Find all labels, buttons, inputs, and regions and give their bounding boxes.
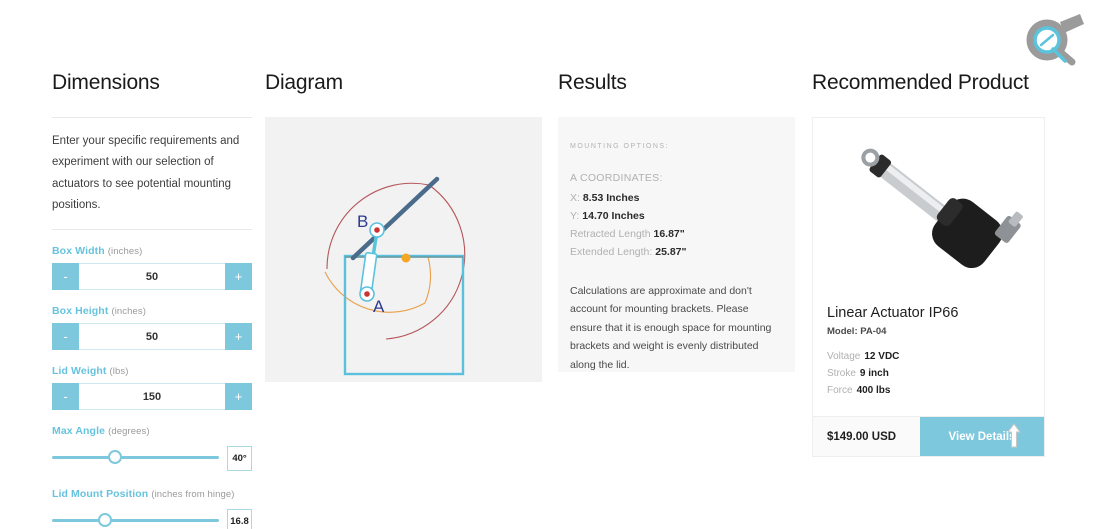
extended-length-label: Extended Length: [570, 246, 652, 258]
lid-mount-position-slider-thumb[interactable] [98, 513, 112, 527]
box-height-label: Box Height (inches) [52, 305, 252, 317]
coord-x-label: X: [570, 192, 580, 204]
lid-weight-increment-button[interactable]: + [225, 383, 252, 410]
actuator-calculator-page: Dimensions Enter your specific requireme… [0, 0, 1100, 529]
retracted-length-label: Retracted Length [570, 228, 651, 240]
recommended-product-title: Recommended Product [812, 72, 1045, 93]
product-model: Model: PA-04 [827, 326, 1030, 337]
diagram-title: Diagram [265, 72, 542, 93]
coord-x-row: X: 8.53 Inches [570, 192, 783, 204]
a-coordinates-label: A COORDINATES: [570, 172, 783, 184]
lid-swing-arc-red-2 [386, 185, 465, 339]
spec-stroke: Stroke9 inch [827, 368, 1030, 379]
product-image [813, 118, 1044, 293]
coord-y-value: 14.70 Inches [582, 210, 644, 222]
max-angle-slider-row[interactable]: 40° [52, 443, 252, 473]
stroke-range-arc-orange-2 [425, 257, 430, 303]
lid-weight-stepper[interactable]: - 150 + [52, 383, 252, 410]
dimensions-intro-text: Enter your specific requirements and exp… [52, 118, 252, 229]
diagram-svg[interactable]: B A [265, 117, 542, 382]
spec-voltage-value: 12 VDC [864, 351, 899, 362]
box-width-input[interactable]: 50 [79, 263, 225, 290]
spec-force-label: Force [827, 385, 853, 396]
spec-force-value: 400 lbs [857, 385, 891, 396]
pivot-a-dot-icon [364, 291, 370, 297]
box-width-unit: (inches) [108, 246, 143, 257]
lid-weight-input[interactable]: 150 [79, 383, 225, 410]
results-title: Results [558, 72, 795, 93]
box-width-stepper[interactable]: - 50 + [52, 263, 252, 290]
box-height-input[interactable]: 50 [79, 323, 225, 350]
product-column: Recommended Product [812, 72, 1045, 457]
lid-weight-label-text: Lid Weight [52, 365, 106, 377]
spec-stroke-value: 9 inch [860, 368, 889, 379]
box-height-label-text: Box Height [52, 305, 108, 317]
lid-mount-position-label: Lid Mount Position (inches from hinge) [52, 488, 252, 500]
spec-stroke-label: Stroke [827, 368, 856, 379]
box-height-unit: (inches) [111, 306, 146, 317]
retracted-length-value: 16.87" [653, 228, 684, 240]
lid-mount-position-label-text: Lid Mount Position [52, 488, 148, 500]
magnifier-logo-icon [1020, 12, 1086, 66]
product-price: $149.00 USD [813, 417, 920, 456]
box-height-stepper[interactable]: - 50 + [52, 323, 252, 350]
extended-length-value: 25.87" [655, 246, 686, 258]
lid-mount-position-slider-row[interactable]: 16.8 [52, 506, 252, 529]
mouse-cursor-icon [1006, 423, 1022, 449]
view-details-button[interactable]: View Details [920, 417, 1044, 456]
box-width-decrement-button[interactable]: - [52, 263, 79, 290]
results-column: Results MOUNTING OPTIONS: A COORDINATES:… [558, 72, 795, 372]
box-height-decrement-button[interactable]: - [52, 323, 79, 350]
max-angle-value[interactable]: 40° [227, 446, 252, 471]
lid-mount-position-slider[interactable] [52, 506, 219, 529]
product-card[interactable]: Linear Actuator IP66 Model: PA-04 Voltag… [812, 117, 1045, 457]
spec-force: Force400 lbs [827, 385, 1030, 396]
product-footer: $149.00 USD View Details [813, 416, 1044, 456]
product-name: Linear Actuator IP66 [827, 305, 1030, 321]
max-angle-slider[interactable] [52, 443, 219, 473]
linear-actuator-illustration-icon [829, 136, 1029, 276]
lid-mount-position-slider-track[interactable] [52, 519, 219, 522]
coord-y-row: Y: 14.70 Inches [570, 210, 783, 222]
results-disclaimer: Calculations are approximate and don't a… [570, 282, 783, 374]
coord-x-value: 8.53 Inches [583, 192, 640, 204]
box-width-label: Box Width (inches) [52, 245, 252, 257]
retracted-length-row: Retracted Length 16.87" [570, 228, 783, 240]
extended-length-row: Extended Length: 25.87" [570, 246, 783, 258]
spec-voltage-label: Voltage [827, 351, 860, 362]
point-b-label: B [357, 212, 368, 231]
box-height-increment-button[interactable]: + [225, 323, 252, 350]
box-width-label-text: Box Width [52, 245, 105, 257]
max-angle-label: Max Angle (degrees) [52, 425, 252, 437]
diagram-panel[interactable]: B A [265, 117, 542, 382]
box-width-increment-button[interactable]: + [225, 263, 252, 290]
point-a-label: A [373, 297, 385, 316]
dimensions-title: Dimensions [52, 72, 252, 93]
lid-weight-unit: (lbs) [110, 366, 129, 377]
dimensions-column: Dimensions Enter your specific requireme… [52, 72, 252, 529]
results-panel: MOUNTING OPTIONS: A COORDINATES: X: 8.53… [558, 117, 795, 372]
max-angle-slider-thumb[interactable] [108, 450, 122, 464]
lid-weight-decrement-button[interactable]: - [52, 383, 79, 410]
lid-mount-position-value[interactable]: 16.8 [227, 509, 252, 529]
max-angle-unit: (degrees) [108, 426, 150, 437]
coord-y-label: Y: [570, 210, 579, 222]
product-details: Linear Actuator IP66 Model: PA-04 Voltag… [813, 293, 1044, 416]
diagram-column: Diagram [265, 72, 542, 382]
divider-bottom [52, 229, 252, 230]
spec-voltage: Voltage12 VDC [827, 351, 1030, 362]
lid-mount-position-unit: (inches from hinge) [151, 489, 234, 500]
mounting-options-label: MOUNTING OPTIONS: [570, 143, 783, 150]
pivot-b-dot-icon [374, 227, 380, 233]
max-angle-label-text: Max Angle [52, 425, 105, 437]
lid-mount-marker-icon [402, 254, 411, 263]
lid-weight-label: Lid Weight (lbs) [52, 365, 252, 377]
max-angle-slider-track[interactable] [52, 456, 219, 459]
